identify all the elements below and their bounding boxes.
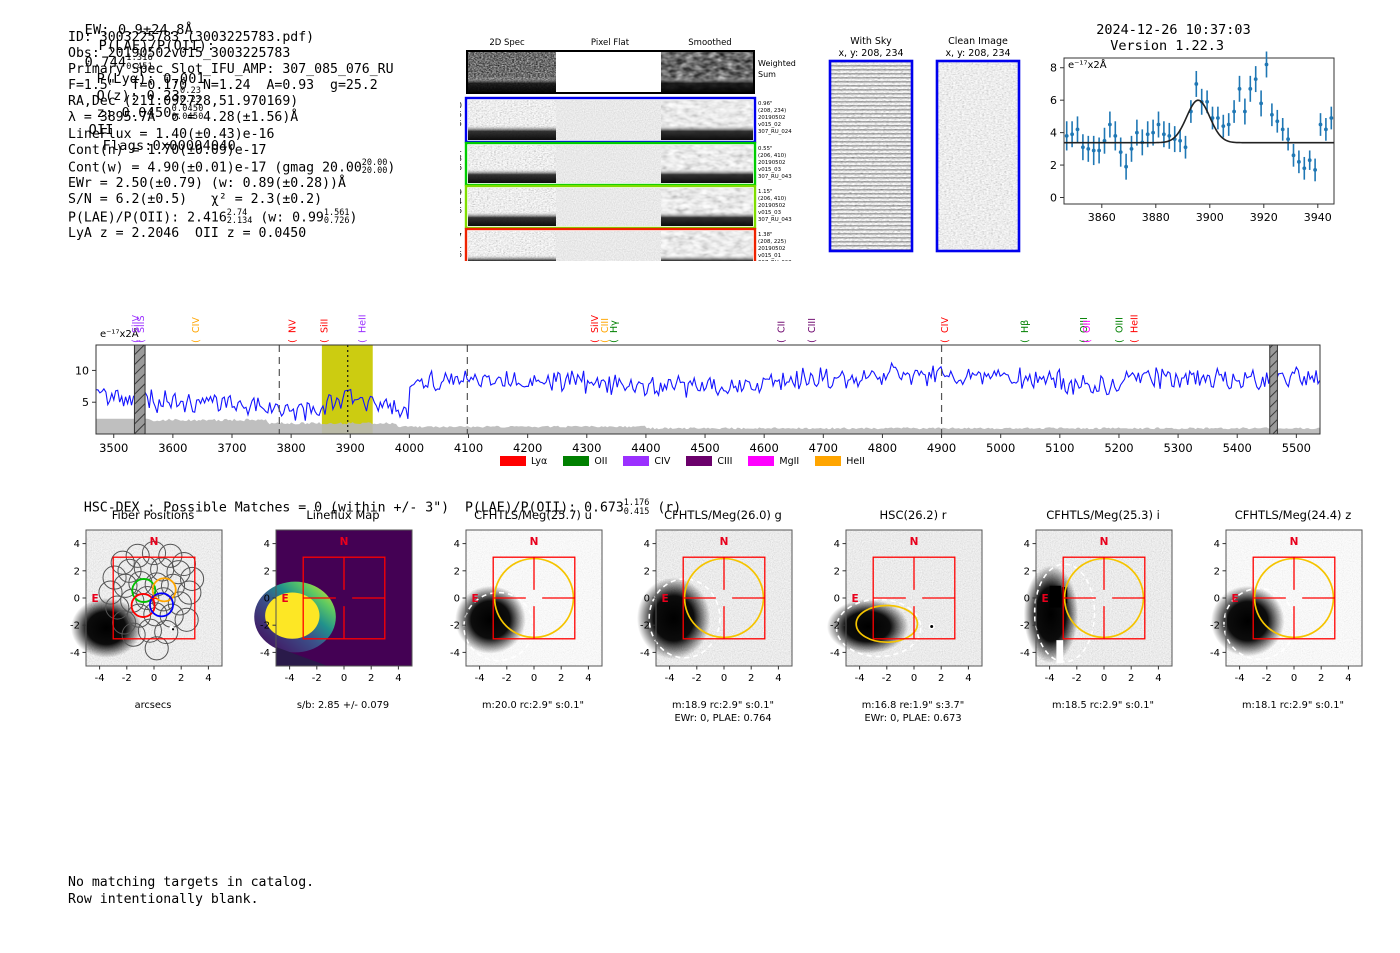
info-id: ID: 3003225783 (3003225783.pdf) <box>68 30 395 46</box>
svg-text:0: 0 <box>531 673 537 684</box>
svg-text:0: 0 <box>1291 673 1297 684</box>
svg-text:OIII: OIII <box>1115 317 1126 333</box>
info-lambda: λ = 3895.7Å σ = 4.28(±1.56)Å <box>68 110 395 126</box>
svg-text:4: 4 <box>1345 673 1351 684</box>
svg-text:4: 4 <box>205 673 211 684</box>
info-sn: S/N = 6.2(±0.5) χ² = 2.3(±0.2) <box>68 192 395 208</box>
footer-note: No matching targets in catalog. Row inte… <box>68 874 314 908</box>
svg-text:0: 0 <box>1214 594 1220 605</box>
svg-text:-4: -4 <box>640 648 650 659</box>
svg-text:5000: 5000 <box>986 441 1015 455</box>
svg-text:-2: -2 <box>70 621 80 632</box>
svg-text:2: 2 <box>1318 673 1324 684</box>
svg-text:2: 2 <box>1214 566 1220 577</box>
line-marker-ciii-8: CIII( <box>600 318 611 343</box>
svg-text:HeII: HeII <box>358 314 369 333</box>
spec-row-2-left-0: 0.19 <box>460 188 462 197</box>
info-cont-w: Cont(w) = 4.90(±0.01)e-17 (gmag 20.0020.… <box>68 159 395 177</box>
svg-text:3700: 3700 <box>217 441 246 455</box>
spec-row-3-right-3: v015_01 <box>758 253 781 259</box>
legend-label-civ: CIV <box>654 456 670 467</box>
svg-text:(: ( <box>600 339 611 343</box>
svg-text:0: 0 <box>721 673 727 684</box>
cutout-title-6: CFHTLS/Meg(24.4) z <box>1198 508 1388 526</box>
cutout-withsky-coords: x, y: 208, 234 <box>838 48 903 59</box>
svg-text:5: 5 <box>82 396 89 409</box>
legend-label-lyα: Lyα <box>531 456 547 467</box>
line-marker-heii-16: HeII( <box>1129 314 1140 343</box>
line-marker-oiii-15: OIII( <box>1115 317 1126 343</box>
line-marker-nv-3: NV( <box>287 319 298 343</box>
svg-text:-4: -4 <box>95 673 105 684</box>
east-label-2: E <box>471 593 478 605</box>
spec-row-1-right-4: 307_RU_043 <box>758 174 792 180</box>
cutout-title-4: HSC(26.2) r <box>818 508 1008 526</box>
svg-text:-4: -4 <box>1045 673 1055 684</box>
svg-text:-2: -2 <box>260 621 270 632</box>
svg-text:5500: 5500 <box>1282 441 1311 455</box>
svg-text:CIV: CIV <box>191 317 202 333</box>
svg-text:6: 6 <box>1050 94 1057 107</box>
svg-text:-4: -4 <box>260 648 270 659</box>
svg-text:4: 4 <box>395 673 401 684</box>
spec-row-1-left-2: 406 <box>460 163 462 172</box>
cutout-panel-0[interactable]: Fiber Positions+NE-4-4-2-2002244arcsecs <box>58 508 248 713</box>
spec-row-2-right-3: v015_03 <box>758 210 781 216</box>
svg-text:+: + <box>149 592 158 605</box>
svg-text:3880: 3880 <box>1142 211 1170 224</box>
cutout-image-5: NE-4-4-2-2002244 <box>1008 526 1194 698</box>
spec-row-3-right-4: 307_RU_023 <box>758 260 792 261</box>
cutout-image-4: NE-4-4-2-2002244 <box>818 526 1004 698</box>
col-header-2dspec: 2D Spec <box>489 38 525 48</box>
cutout-clean-image <box>937 61 1019 251</box>
cutout-caption-2: m:20.0 rc:2.9" s:0.1" <box>438 700 628 713</box>
svg-text:0: 0 <box>74 594 80 605</box>
svg-text:8: 8 <box>1050 62 1057 75</box>
svg-text:CIII: CIII <box>807 318 818 333</box>
spec-row-0-right-3: v015_02 <box>758 122 781 128</box>
legend-label-mgii: MgII <box>779 456 799 467</box>
legend-swatch-civ <box>623 456 649 466</box>
target-info-block: ID: 3003225783 (3003225783.pdf) Obs: 201… <box>68 30 395 242</box>
cutout-caption-3: m:18.9 rc:2.9" s:0.1" <box>628 700 818 713</box>
info-cont-n: Cont(n) = 1.70(±0.09)e-17 <box>68 143 395 159</box>
info-plae: P(LAE)/P(OII): 2.4162.742.134 (w: 0.991.… <box>68 209 395 227</box>
line-marker-heii-5: HeII( <box>358 314 369 343</box>
cutout-image-0: +NE-4-4-2-2002244 <box>58 526 244 698</box>
legend-item-heii: HeII <box>815 456 865 467</box>
svg-text:-4: -4 <box>70 648 80 659</box>
north-label-3: N <box>720 536 729 548</box>
spec-row-2-right-1: (206, 410) <box>758 196 786 202</box>
line-marker-civ-11: CIV( <box>940 317 951 343</box>
svg-text:4000: 4000 <box>395 441 424 455</box>
spec-row-2-right-2: 20190502 <box>758 203 785 209</box>
svg-text:-2: -2 <box>640 621 650 632</box>
svg-text:4: 4 <box>264 539 270 550</box>
info-plae-pre: P(LAE)/P(OII): 2.416 <box>68 210 227 225</box>
cutout-caption-6: m:18.1 rc:2.9" s:0.1" <box>1198 700 1388 713</box>
svg-text:(: ( <box>191 339 202 343</box>
cutout-caption-4: m:16.8 re:1.9" s:3.7" <box>818 700 1008 713</box>
svg-text:2: 2 <box>938 673 944 684</box>
svg-text:2: 2 <box>454 566 460 577</box>
cutout-withsky-image <box>830 61 912 251</box>
spec-row-1-right-3: v015_03 <box>758 167 781 173</box>
cutout-image-3: NE-4-4-2-2002244 <box>628 526 814 698</box>
north-label-6: N <box>1290 536 1299 548</box>
svg-text:4: 4 <box>1024 539 1030 550</box>
svg-text:2: 2 <box>74 566 80 577</box>
info-cont-w-text: Cont(w) = 4.90(±0.01)e-17 (gmag 20.00 <box>68 160 362 175</box>
svg-text:-4: -4 <box>285 673 295 684</box>
svg-text:-2: -2 <box>502 673 512 684</box>
cutout-caption2-3: EWr: 0, PLAE: 0.764 <box>628 713 818 726</box>
svg-text:-2: -2 <box>882 673 892 684</box>
info-plae-lo: 2.134 <box>227 217 253 226</box>
legend-item-lyα: Lyα <box>500 456 547 467</box>
svg-text:2: 2 <box>368 673 374 684</box>
svg-text:(: ( <box>1082 339 1093 343</box>
svg-text:0: 0 <box>1024 594 1030 605</box>
cutout-image-1: NE-4-4-2-2002244 <box>248 526 434 698</box>
info-plae-w-lo: 0.726 <box>324 217 350 226</box>
svg-text:-4: -4 <box>1020 648 1030 659</box>
cutout-caption-5: m:18.5 rc:2.9" s:0.1" <box>1008 700 1198 713</box>
cutout-title-2: CFHTLS/Meg(25.7) u <box>438 508 628 526</box>
svg-text:3920: 3920 <box>1250 211 1278 224</box>
cutout-title-5: CFHTLS/Meg(25.3) i <box>1008 508 1198 526</box>
spec-row-1-right-2: 20190502 <box>758 160 785 166</box>
line-marker-cii-9: CII( <box>776 321 787 343</box>
svg-text:0: 0 <box>1050 192 1057 205</box>
north-label-5: N <box>1100 536 1109 548</box>
svg-text:5200: 5200 <box>1104 441 1133 455</box>
info-plae-mid: (w: 0.99 <box>260 210 324 225</box>
svg-text:2: 2 <box>264 566 270 577</box>
svg-text:2: 2 <box>558 673 564 684</box>
cutout-panel-1[interactable]: Lineflux MapNE-4-4-2-2002244s/b: 2.85 +/… <box>248 508 438 713</box>
svg-text:NV: NV <box>287 319 298 333</box>
spec-row-1-left-1: 0.73 <box>460 154 462 163</box>
svg-text:5400: 5400 <box>1223 441 1252 455</box>
svg-text:(: ( <box>287 339 298 343</box>
footer-line-1: No matching targets in catalog. <box>68 874 314 891</box>
svg-text:10: 10 <box>75 364 89 377</box>
svg-text:OII: OII <box>1082 320 1093 333</box>
cutout-caption2-4: EWr: 0, PLAE: 0.673 <box>818 713 1008 726</box>
svg-text:5300: 5300 <box>1163 441 1192 455</box>
masked-band-0 <box>134 345 145 434</box>
svg-text:4: 4 <box>454 539 460 550</box>
svg-text:0: 0 <box>834 594 840 605</box>
spec-row-3-right-0: 1.38" <box>758 232 772 238</box>
svg-text:CIII: CIII <box>600 318 611 333</box>
north-label-4: N <box>910 536 919 548</box>
weighted-sum-row: Weighted Sum <box>466 50 796 94</box>
cutout-title-0: Fiber Positions <box>58 508 248 526</box>
spec-row-1: 0.21 0.73 406 0.55" (206, 410) 20190502 … <box>460 143 792 185</box>
spec-row-2-right-4: 307_RU_043 <box>758 217 792 223</box>
svg-text:3900: 3900 <box>336 441 365 455</box>
spec-row-0-left-0: 0.30 <box>460 101 462 110</box>
svg-text:-2: -2 <box>122 673 132 684</box>
legend-item-mgii: MgII <box>748 456 799 467</box>
cutout-panel-2[interactable]: CFHTLS/Meg(25.7) uNE-4-4-2-2002244m:20.0… <box>438 508 628 713</box>
svg-text:0: 0 <box>911 673 917 684</box>
svg-text:4900: 4900 <box>927 441 956 455</box>
svg-text:(: ( <box>358 339 369 343</box>
spec-row-3-left-2: 426 <box>460 250 462 259</box>
info-params: F=1.5" T=0.170 N=1.24 A=0.93 g=25.2 <box>68 78 395 94</box>
svg-text:2: 2 <box>178 673 184 684</box>
spec-row-3-right-1: (208, 225) <box>758 239 786 245</box>
svg-text:SiIS: SiIS <box>136 315 147 333</box>
svg-text:SiII: SiII <box>319 319 330 333</box>
svg-text:-2: -2 <box>312 673 322 684</box>
spec-row-0-left-1: 1.55 <box>460 110 462 119</box>
svg-text:0: 0 <box>264 594 270 605</box>
top-cutouts: With Sky x, y: 208, 234 Clean Image x, y… <box>818 33 1028 253</box>
weighted-sum-label-1: Weighted <box>758 59 796 68</box>
info-radec: RA,Dec (211.092728,51.970169) <box>68 94 395 110</box>
east-label-6: E <box>1231 593 1238 605</box>
footer-line-2: Row intentionally blank. <box>68 891 314 908</box>
north-label-2: N <box>530 536 539 548</box>
line-marker-civ-2: CIV( <box>191 317 202 343</box>
svg-text:(: ( <box>807 339 818 343</box>
svg-text:2: 2 <box>1024 566 1030 577</box>
svg-text:0: 0 <box>1101 673 1107 684</box>
svg-text:Hβ: Hβ <box>1020 320 1031 333</box>
svg-text:0: 0 <box>454 594 460 605</box>
cutout-title-1: Lineflux Map <box>248 508 438 526</box>
spec-row-0-left-2: 425 <box>460 119 462 128</box>
spec-row-3-right-2: 20190502 <box>758 246 785 252</box>
svg-text:3800: 3800 <box>276 441 305 455</box>
full-spectrum-plot: 5103500360037003800390040004100420043004… <box>58 282 1348 472</box>
spec-row-2-right-0: 1.15" <box>758 189 772 195</box>
svg-text:-4: -4 <box>450 648 460 659</box>
svg-text:CIV: CIV <box>940 317 951 333</box>
svg-text:2: 2 <box>644 566 650 577</box>
svg-text:4100: 4100 <box>454 441 483 455</box>
cutout-clean-coords: x, y: 208, 234 <box>945 48 1010 59</box>
line-marker-oii-14: OII( <box>1082 320 1093 343</box>
svg-text:-2: -2 <box>1262 673 1272 684</box>
cutout-panel-4[interactable]: HSC(26.2) rNE-4-4-2-2002244m:16.8 re:1.9… <box>818 508 1008 725</box>
north-label-1: N <box>340 536 349 548</box>
spec-row-2-left-1: 1.04 <box>460 197 462 206</box>
svg-text:-2: -2 <box>450 621 460 632</box>
east-label-3: E <box>661 593 668 605</box>
col-header-pixelflat: Pixel Flat <box>591 38 630 48</box>
info-lineflux: LineFlux = 1.40(±0.43)e-16 <box>68 127 395 143</box>
legend-swatch-oii <box>563 456 589 466</box>
line-marker-siii-4: SiII( <box>319 319 330 343</box>
svg-text:4: 4 <box>834 539 840 550</box>
svg-text:-4: -4 <box>830 648 840 659</box>
svg-text:(: ( <box>776 339 787 343</box>
spec-row-0: 0.30 1.55 425 0.96" (208, 234) 20190502 … <box>460 98 792 142</box>
svg-text:-2: -2 <box>1020 621 1030 632</box>
spec-row-3-left-0: 0.07 <box>460 232 462 241</box>
svg-text:4: 4 <box>1050 127 1057 140</box>
north-label-0: N <box>150 536 159 548</box>
svg-text:-2: -2 <box>1210 621 1220 632</box>
svg-text:3940: 3940 <box>1304 211 1332 224</box>
cutout-image-6: NE-4-4-2-2002244 <box>1198 526 1384 698</box>
east-label-0: E <box>91 593 98 605</box>
svg-text:2: 2 <box>748 673 754 684</box>
cutout-clean-title: Clean Image <box>948 36 1008 47</box>
svg-text:-4: -4 <box>1210 648 1220 659</box>
info-redshifts: LyA z = 2.2046 OII z = 0.0450 <box>68 226 395 242</box>
svg-text:4: 4 <box>644 539 650 550</box>
svg-text:(: ( <box>1129 339 1140 343</box>
lineplot-flux-units: e⁻¹⁷x2Å <box>1068 58 1107 71</box>
spec-row-3-left-1: 1.41 <box>460 241 462 250</box>
masked-band-1 <box>1270 345 1278 434</box>
svg-text:0: 0 <box>341 673 347 684</box>
legend-item-civ: CIV <box>623 456 670 467</box>
legend-label-oii: OII <box>594 456 607 467</box>
weighted-sum-label-2: Sum <box>758 70 776 79</box>
svg-text:4: 4 <box>585 673 591 684</box>
svg-text:(: ( <box>1115 339 1126 343</box>
svg-text:2: 2 <box>834 566 840 577</box>
svg-text:-4: -4 <box>1235 673 1245 684</box>
info-ewr: EWr = 2.50(±0.79) (w: 0.89(±0.28))Å <box>68 176 395 192</box>
east-label-5: E <box>1041 593 1048 605</box>
svg-text:3500: 3500 <box>99 441 128 455</box>
svg-text:4: 4 <box>775 673 781 684</box>
legend-swatch-lyα <box>500 456 526 466</box>
info-primary-spec: Primary Spec_Slot_IFU_AMP: 307_085_076_R… <box>68 62 395 78</box>
line-marker-hβ-12: Hβ( <box>1020 320 1031 343</box>
east-label-4: E <box>851 593 858 605</box>
svg-text:2: 2 <box>1050 159 1057 172</box>
2d-spectra-panel: 2D Spec Pixel Flat Smoothed Weighted Sum… <box>460 36 800 261</box>
svg-text:-2: -2 <box>1072 673 1082 684</box>
spec-row-0-right-0: 0.96" <box>758 101 772 107</box>
legend-item-oii: OII <box>563 456 607 467</box>
legend-item-ciii: CIII <box>686 456 732 467</box>
svg-text:5100: 5100 <box>1045 441 1074 455</box>
spec-row-1-left-0: 0.21 <box>460 145 462 154</box>
svg-text:(: ( <box>319 339 330 343</box>
svg-text:-2: -2 <box>692 673 702 684</box>
svg-text:-4: -4 <box>475 673 485 684</box>
svg-text:4: 4 <box>1155 673 1161 684</box>
spec-row-0-right-1: (208, 234) <box>758 108 786 114</box>
cutout-withsky-title: With Sky <box>850 36 892 47</box>
svg-text:CII: CII <box>776 321 787 333</box>
svg-text:4: 4 <box>74 539 80 550</box>
spec-row-2-left-2: 406 <box>460 206 462 215</box>
info-plae-post: ) <box>349 210 357 225</box>
line-marker-ciii-10: CIII( <box>807 318 818 343</box>
spec-row-2: 0.19 1.04 406 1.15" (206, 410) 20190502 … <box>460 186 792 228</box>
svg-text:(: ( <box>136 339 147 343</box>
cutout-caption-0: arcsecs <box>58 700 248 713</box>
info-obs: Obs: 20190502v015_3003225783 <box>68 46 395 62</box>
info-cont-w-lo: 20.00 <box>362 167 388 176</box>
svg-text:-4: -4 <box>665 673 675 684</box>
spec-row-1-right-1: (206, 410) <box>758 153 786 159</box>
spec-row-0-right-4: 307_RU_024 <box>758 129 792 135</box>
svg-text:-2: -2 <box>830 621 840 632</box>
cutout-caption-1: s/b: 2.85 +/- 0.079 <box>248 700 438 713</box>
svg-text:(: ( <box>1020 339 1031 343</box>
svg-text:4: 4 <box>1214 539 1220 550</box>
spec-row-1-right-0: 0.55" <box>758 146 772 152</box>
svg-text:3600: 3600 <box>158 441 187 455</box>
svg-text:3900: 3900 <box>1196 211 1224 224</box>
svg-text:2: 2 <box>1128 673 1134 684</box>
spec-row-3: 0.07 1.41 426 1.38" (208, 225) 20190502 … <box>460 229 792 261</box>
svg-text:3860: 3860 <box>1088 211 1116 224</box>
cutout-image-2: NE-4-4-2-2002244 <box>438 526 624 698</box>
spec-row-0-right-2: 20190502 <box>758 115 785 121</box>
cutout-panel-6[interactable]: CFHTLS/Meg(24.4) zNE-4-4-2-2002244m:18.1… <box>1198 508 1388 713</box>
info-cont-w-post: ) <box>387 160 395 175</box>
svg-text:-4: -4 <box>855 673 865 684</box>
cutout-panel-3[interactable]: CFHTLS/Meg(26.0) gNE-4-4-2-2002244m:18.9… <box>628 508 818 725</box>
emission-line-plot: 0246838603880390039203940e⁻¹⁷x2Å <box>1034 44 1344 259</box>
svg-text:4: 4 <box>965 673 971 684</box>
svg-text:HeII: HeII <box>1129 314 1140 333</box>
legend-label-ciii: CIII <box>717 456 732 467</box>
legend-swatch-heii <box>815 456 841 466</box>
legend-label-heii: HeII <box>846 456 865 467</box>
east-label-1: E <box>281 593 288 605</box>
legend-swatch-mgii <box>748 456 774 466</box>
header-timestamp: 2024-12-26 10:37:03 <box>1096 22 1250 38</box>
cutout-title-3: CFHTLS/Meg(26.0) g <box>628 508 818 526</box>
svg-text:0: 0 <box>151 673 157 684</box>
svg-text:0: 0 <box>644 594 650 605</box>
cutout-panel-5[interactable]: CFHTLS/Meg(25.3) iNE-4-4-2-2002244m:18.5… <box>1008 508 1198 713</box>
legend-swatch-ciii <box>686 456 712 466</box>
col-header-smoothed: Smoothed <box>688 38 731 48</box>
spectrum-legend: LyαOIICIVCIIIMgIIHeII <box>500 451 881 470</box>
svg-text:(: ( <box>940 339 951 343</box>
